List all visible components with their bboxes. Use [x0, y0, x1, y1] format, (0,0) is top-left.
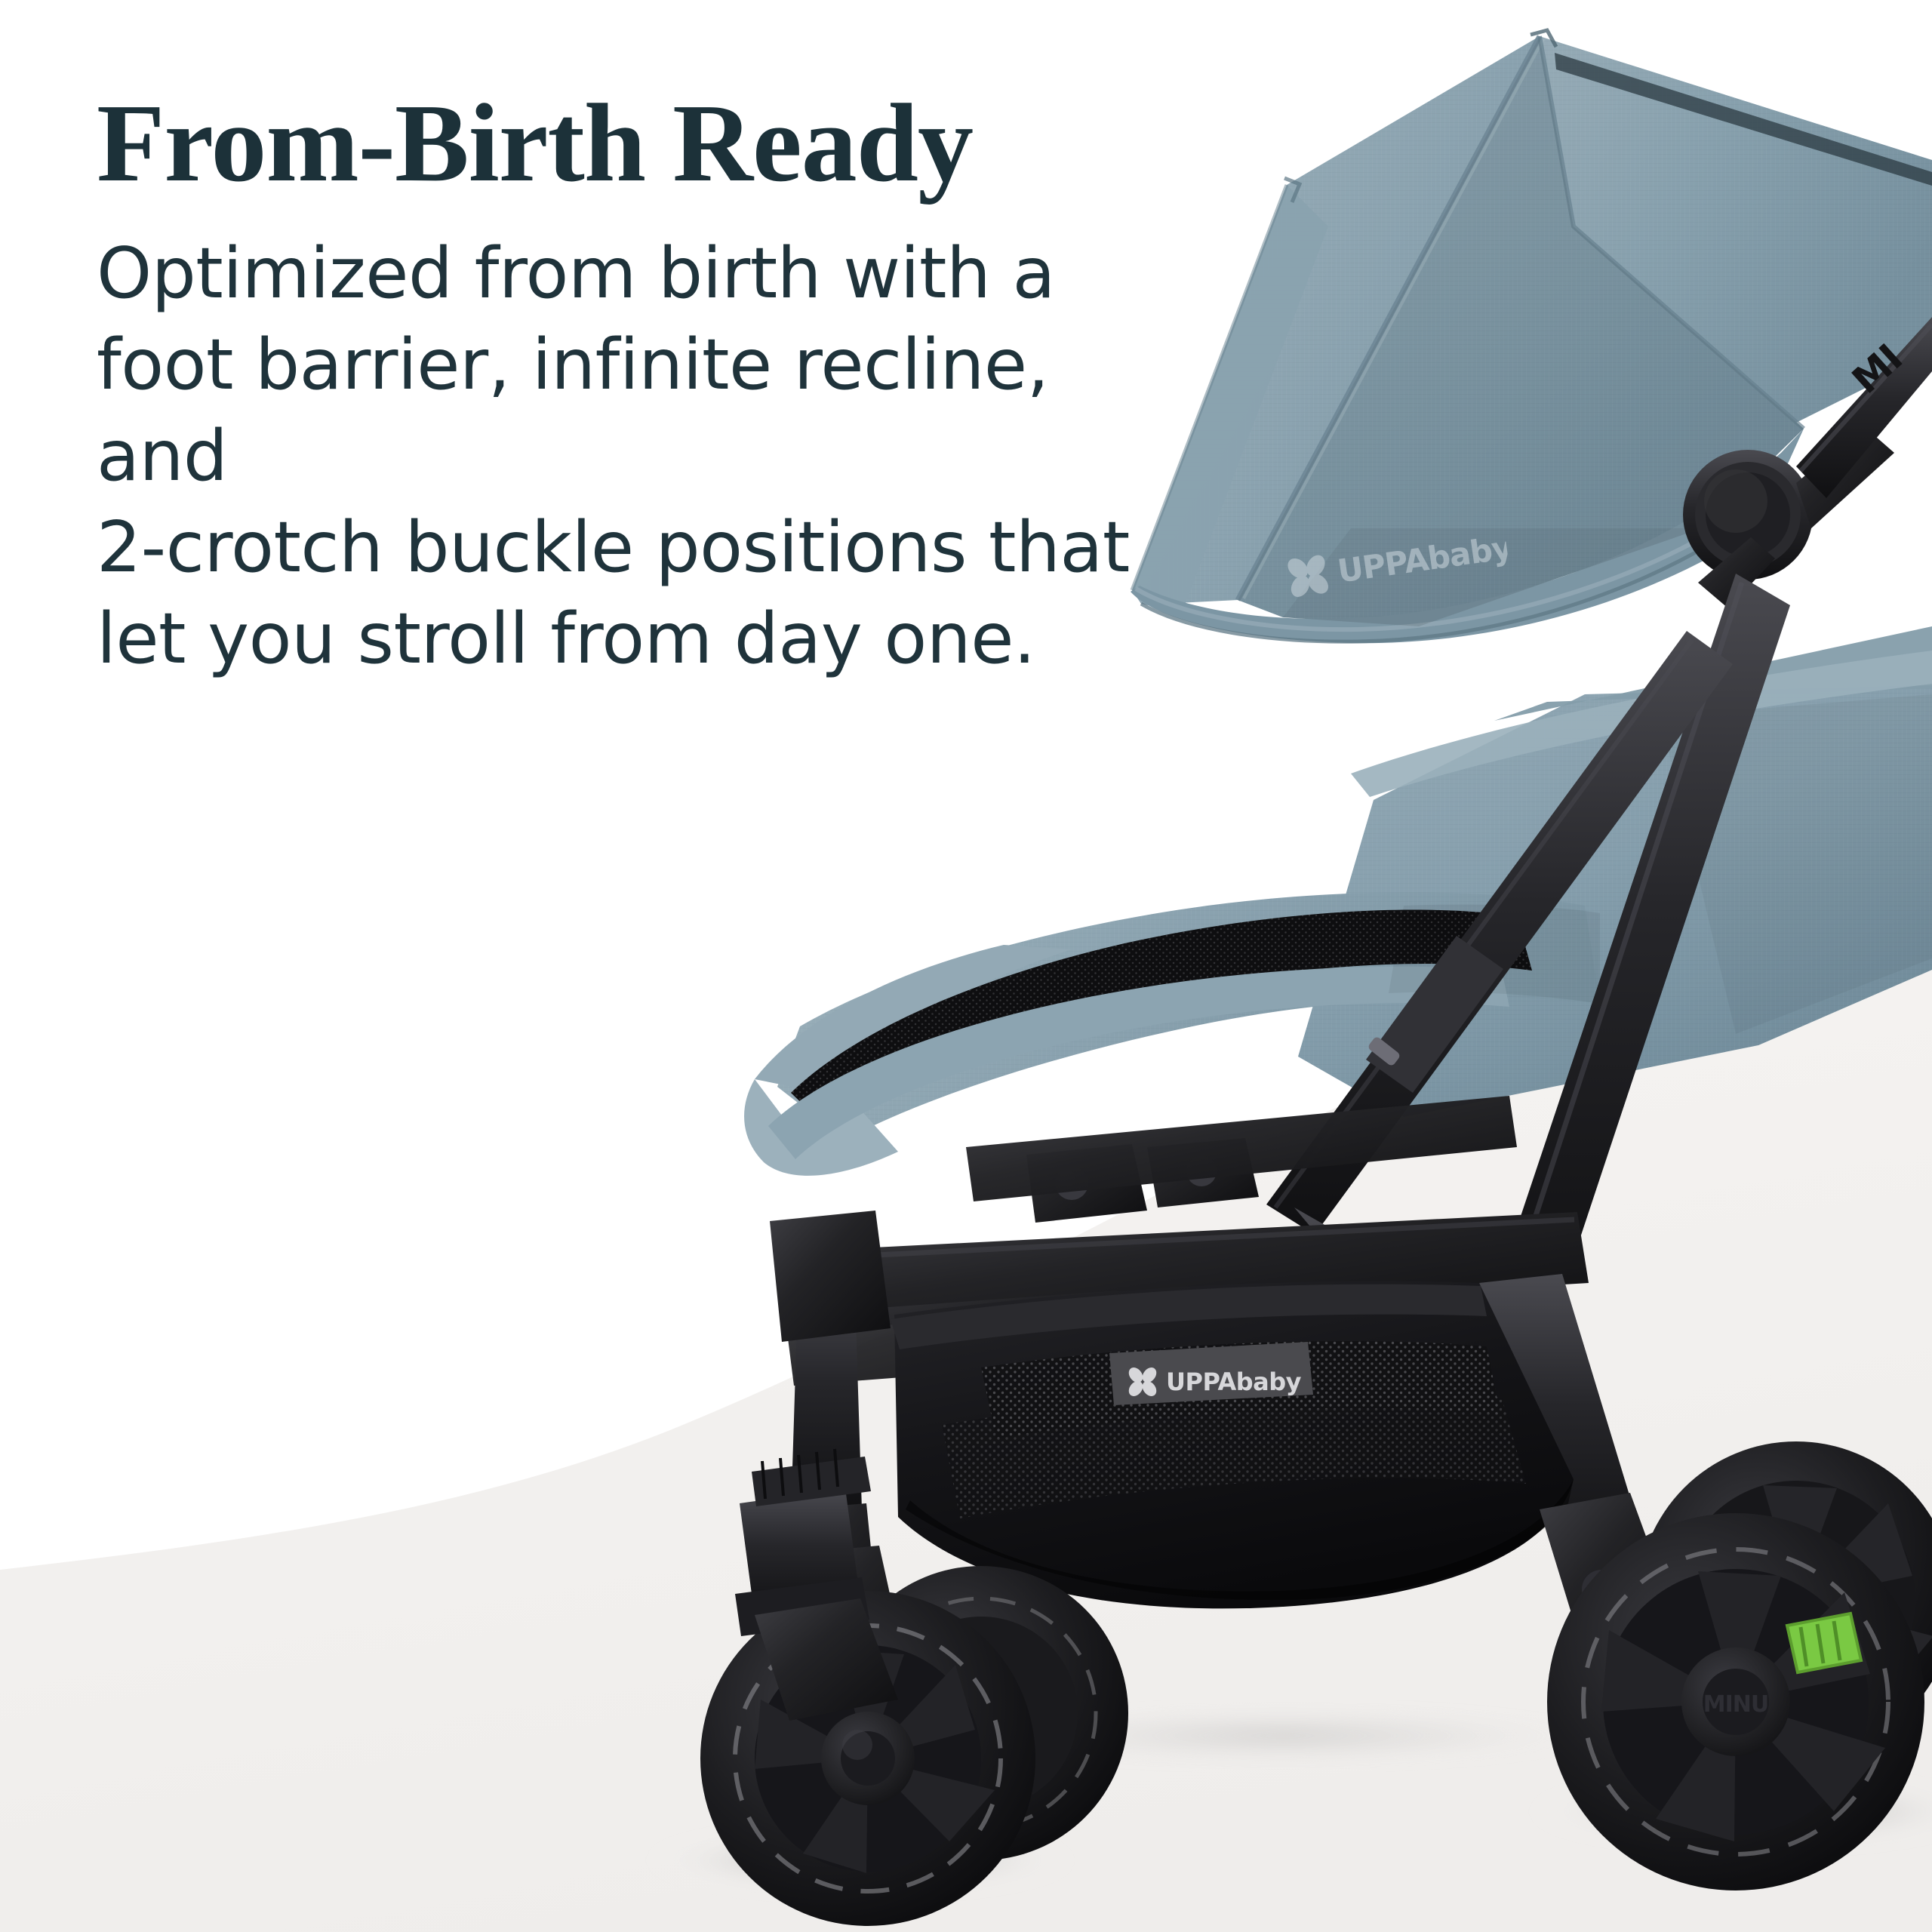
brake-pedal[interactable] [1787, 1614, 1861, 1672]
subtitle-line-3: 2-crotch buckle positions that [97, 502, 1198, 593]
subtitle-line-1: Optimized from birth with a [97, 228, 1198, 319]
text-block: From-Birth Ready Optimized from birth wi… [97, 88, 1198, 684]
subtitle-line-2: foot barrier, infinite recline, and [97, 319, 1198, 502]
rail-upper-front [770, 1211, 891, 1342]
subtitle-line-4: let you stroll from day one. [97, 593, 1198, 685]
canopy [1131, 30, 1932, 643]
product-feature-card: From-Birth Ready Optimized from birth wi… [0, 0, 1932, 1932]
hub-badge-minu: MINU [1703, 1691, 1768, 1718]
brand-wordmark-basket: UPPAbaby [1166, 1367, 1302, 1396]
uppababy-petal-icon [1282, 550, 1334, 602]
storage-basket [891, 1281, 1574, 1609]
uppababy-petal-icon-basket [1126, 1364, 1159, 1398]
brand-logo-basket: UPPAbaby [1124, 1364, 1305, 1406]
page-subtitle: Optimized from birth with a foot barrier… [97, 228, 1198, 684]
rear-wheel-near: MINU [1547, 1513, 1924, 1890]
rear-wheel-assembly: MINU [1540, 1441, 1932, 1890]
page-title: From-Birth Ready [97, 88, 1198, 199]
